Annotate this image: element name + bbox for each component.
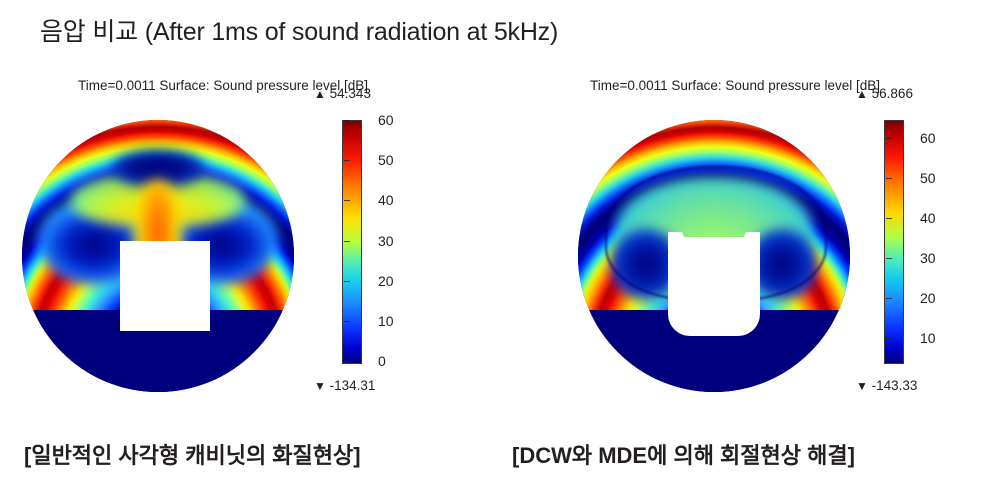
- triangle-up-icon: ▲: [856, 87, 868, 101]
- page-title: 음압 비교 (After 1ms of sound radiation at 5…: [40, 12, 558, 48]
- field-circle-right: [578, 120, 850, 392]
- colorbar-tick-right-5: 10: [920, 330, 936, 346]
- colorbar-tick-left-4: 20: [378, 273, 394, 289]
- caption-right: [DCW와 MDE에 의해 회절현상 해결]: [512, 438, 855, 470]
- colorbar-tick-left-1: 50: [378, 152, 394, 168]
- colorbar-min-value-right: -143.33: [872, 378, 918, 393]
- colorbar-min-right: ▼ -143.33: [856, 378, 917, 393]
- plot-header-left: Time=0.0011 Surface: Sound pressure leve…: [8, 78, 438, 93]
- sound-field-plot-right[interactable]: [578, 120, 850, 392]
- cabinet-dcw-right: [668, 237, 760, 336]
- colorbar-tick-left-2: 40: [378, 192, 394, 208]
- colorbar-tick-left-3: 30: [378, 233, 394, 249]
- colorbar-tick-right-4: 20: [920, 290, 936, 306]
- sound-field-plot-left[interactable]: [22, 120, 294, 392]
- plot-panel-right: Time=0.0011 Surface: Sound pressure leve…: [520, 78, 1000, 423]
- triangle-down-icon: ▼: [314, 379, 326, 393]
- colorbar-min-value-left: -134.31: [330, 378, 376, 393]
- colorbar-max-left: ▲ 54.343: [314, 86, 371, 101]
- caption-left: [일반적인 사각형 캐비닛의 화질현상]: [24, 438, 361, 470]
- colorbar-ticks-left: 60 50 40 30 20 10 0: [342, 120, 362, 362]
- colorbar-tick-right-0: 60: [920, 130, 936, 146]
- triangle-up-icon: ▲: [314, 87, 326, 101]
- colorbar-tick-left-6: 0: [378, 353, 386, 369]
- field-circle-left: [22, 120, 294, 392]
- colorbar-tick-left-0: 60: [378, 112, 394, 128]
- colorbar-tick-right-2: 40: [920, 210, 936, 226]
- colorbar-tick-right-3: 30: [920, 250, 936, 266]
- colorbar-max-value-left: 54.343: [330, 86, 371, 101]
- plot-panel-left: Time=0.0011 Surface: Sound pressure leve…: [8, 78, 488, 423]
- cabinet-rect-left: [120, 241, 210, 331]
- triangle-down-icon: ▼: [856, 379, 868, 393]
- colorbar-max-value-right: 56.866: [872, 86, 913, 101]
- colorbar-max-right: ▲ 56.866: [856, 86, 913, 101]
- colorbar-min-left: ▼ -134.31: [314, 378, 375, 393]
- colorbar-tick-left-5: 10: [378, 313, 394, 329]
- colorbar-ticks-right: 60 50 40 30 20 10: [884, 120, 904, 362]
- colorbar-tick-right-1: 50: [920, 170, 936, 186]
